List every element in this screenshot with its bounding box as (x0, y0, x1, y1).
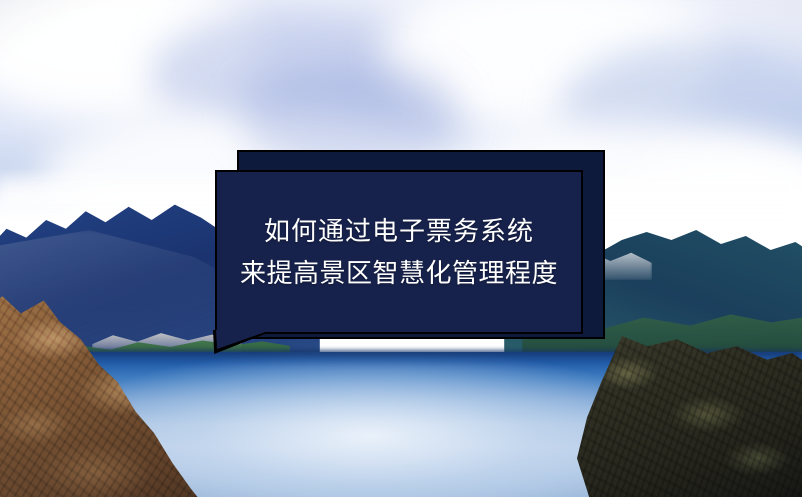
cloud-shape (0, 0, 260, 120)
cloud-shape (150, 10, 450, 140)
cloud-shape (560, 40, 802, 180)
cloud-shape (240, 60, 460, 170)
landscape-background (0, 0, 802, 497)
cloud-shape (380, 0, 720, 130)
banner-image: 如何通过电子票务系统 来提高景区智慧化管理程度 (0, 0, 802, 497)
